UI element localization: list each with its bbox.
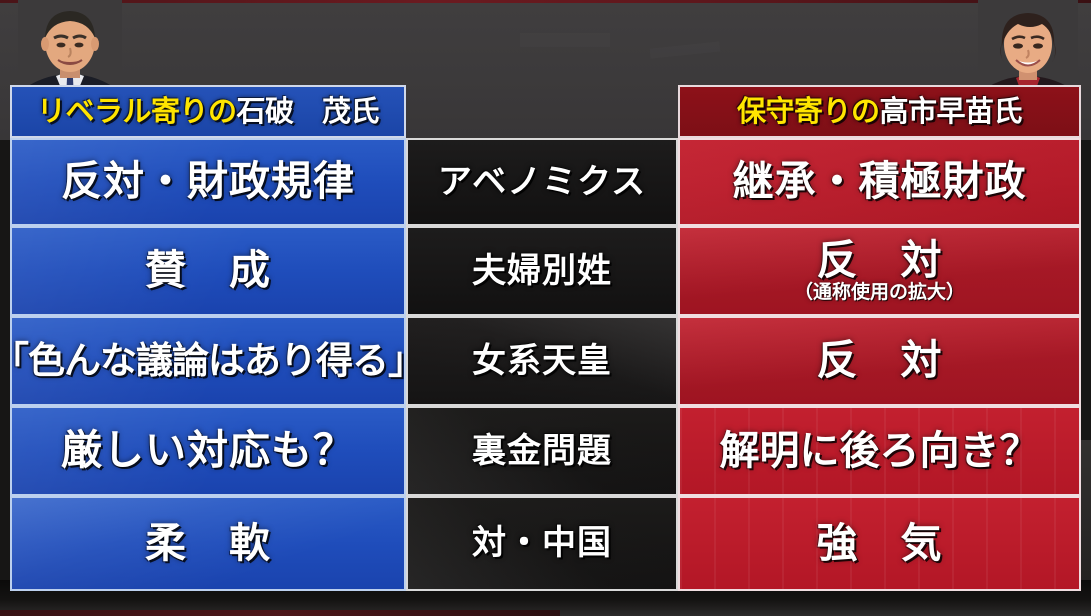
ishiba-cell-female-line-emperor: 「色んな議論はあり得る」 [10, 316, 406, 406]
topic-cell-slush-funds: 裏金問題 [406, 406, 678, 496]
ishiba-value-china-policy: 柔 軟 [145, 523, 271, 565]
topic-label-abenomics: アベノミクス [438, 165, 646, 200]
header-takaichi-text: 保守寄りの高市早苗氏 [737, 97, 1022, 127]
topic-label-separate-surnames: 夫婦別姓 [472, 254, 612, 289]
ishiba-value-slush-funds: 厳しい対応も？ [61, 430, 355, 472]
topic-label-slush-funds: 裏金問題 [472, 434, 612, 469]
comparison-table: リベラル寄りの石破 茂氏 保守寄りの高市早苗氏 反対・財政規律 アベノミクス 継… [10, 85, 1081, 593]
takaichi-cell-separate-surnames: 反 対 （通称使用の拡大） [678, 226, 1081, 316]
topic-cell-abenomics: アベノミクス [406, 138, 678, 226]
takaichi-value-abenomics: 継承・積極財政 [733, 161, 1027, 203]
ishiba-value-separate-surnames: 賛 成 [145, 250, 271, 292]
table-row: 「色んな議論はあり得る」 女系天皇 反 対 [10, 316, 1081, 406]
takaichi-value-separate-surnames: 反 対 [817, 240, 943, 282]
ishiba-cell-slush-funds: 厳しい対応も？ [10, 406, 406, 496]
header-takaichi-name: 高市早苗氏 [880, 94, 1023, 128]
background-smudge [520, 33, 610, 47]
table-row: 柔 軟 対・中国 強 気 [10, 496, 1081, 591]
takaichi-cell-china-policy: 強 気 [678, 496, 1081, 591]
table-row: 厳しい対応も？ 裏金問題 解明に後ろ向き？ [10, 406, 1081, 496]
takaichi-cell-abenomics: 継承・積極財政 [678, 138, 1081, 226]
table-row: 反対・財政規律 アベノミクス 継承・積極財政 [10, 138, 1081, 226]
takaichi-value-china-policy: 強 気 [817, 523, 943, 565]
topic-label-china-policy: 対・中国 [472, 526, 612, 561]
table-header-row: リベラル寄りの石破 茂氏 保守寄りの高市早苗氏 [10, 85, 1081, 138]
ishiba-cell-abenomics: 反対・財政規律 [10, 138, 406, 226]
background-bottom-red-band [0, 610, 560, 616]
header-ishiba-text: リベラル寄りの石破 茂氏 [37, 97, 379, 127]
topic-cell-separate-surnames: 夫婦別姓 [406, 226, 678, 316]
header-ishiba-name: 石破 茂氏 [237, 94, 380, 128]
topic-cell-female-line-emperor: 女系天皇 [406, 316, 678, 406]
takaichi-value-female-line-emperor: 反 対 [817, 340, 943, 382]
ishiba-cell-china-policy: 柔 軟 [10, 496, 406, 591]
header-cell-takaichi: 保守寄りの高市早苗氏 [678, 85, 1081, 138]
ishiba-cell-separate-surnames: 賛 成 [10, 226, 406, 316]
header-cell-ishiba: リベラル寄りの石破 茂氏 [10, 85, 406, 138]
takaichi-value-slush-funds: 解明に後ろ向き？ [720, 431, 1040, 472]
table-row: 賛 成 夫婦別姓 反 対 （通称使用の拡大） [10, 226, 1081, 316]
takaichi-value-separate-surnames-note: （通称使用の拡大） [794, 283, 965, 302]
header-ishiba-prefix: リベラル寄りの [37, 94, 237, 128]
topic-label-female-line-emperor: 女系天皇 [472, 344, 612, 379]
header-takaichi-prefix: 保守寄りの [737, 94, 880, 128]
ishiba-value-abenomics: 反対・財政規律 [61, 161, 355, 203]
ishiba-value-female-line-emperor: 「色んな議論はあり得る」 [10, 342, 406, 380]
takaichi-cell-female-line-emperor: 反 対 [678, 316, 1081, 406]
background-smudge [650, 41, 721, 58]
takaichi-cell-slush-funds: 解明に後ろ向き？ [678, 406, 1081, 496]
topic-cell-china-policy: 対・中国 [406, 496, 678, 591]
